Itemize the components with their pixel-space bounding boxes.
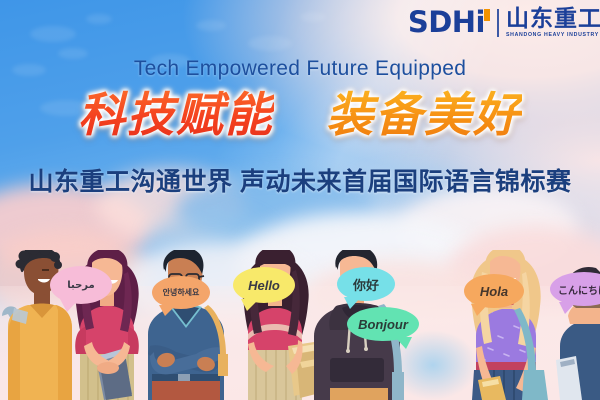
poster-banner: SDHi 山东重工 SHANDONG HEAVY INDUSTRY Tech E…: [0, 0, 600, 400]
speech-bubble-arabic: مرحبا: [50, 266, 112, 304]
logo-wordmark: SDHi: [408, 8, 490, 37]
speech-bubble-spanish: Hola: [464, 274, 524, 308]
person-6: [471, 250, 548, 400]
speech-bubble-korean: 안녕하세요: [152, 276, 210, 309]
speech-bubble-english: Hello: [233, 267, 295, 303]
eyebrow-tagline: Tech Empowered Future Equipped: [0, 57, 600, 81]
logo-accent-bar-icon: [484, 9, 490, 21]
sdhi-logo: SDHi 山东重工 SHANDONG HEAVY INDUSTRY: [408, 7, 600, 38]
headline: 科技赋能 装备美好: [0, 88, 600, 142]
logo-chinese-name: 山东重工: [506, 7, 600, 30]
headline-part-1: 科技赋能: [78, 88, 274, 141]
speech-bubble-chinese: 你好: [337, 267, 395, 301]
logo-divider: [497, 9, 499, 37]
speech-bubble-french: Bonjour: [347, 307, 419, 341]
logo-chinese-subtitle: SHANDONG HEAVY INDUSTRY: [506, 33, 600, 38]
logo-chinese-block: 山东重工 SHANDONG HEAVY INDUSTRY: [506, 7, 600, 38]
logo-sdhi-text: SDHi: [408, 8, 485, 37]
person-3: [148, 250, 228, 400]
subheadline: 山东重工沟通世界 声动未来首届国际语言锦标赛: [0, 162, 600, 198]
headline-part-2: 装备美好: [326, 88, 522, 141]
